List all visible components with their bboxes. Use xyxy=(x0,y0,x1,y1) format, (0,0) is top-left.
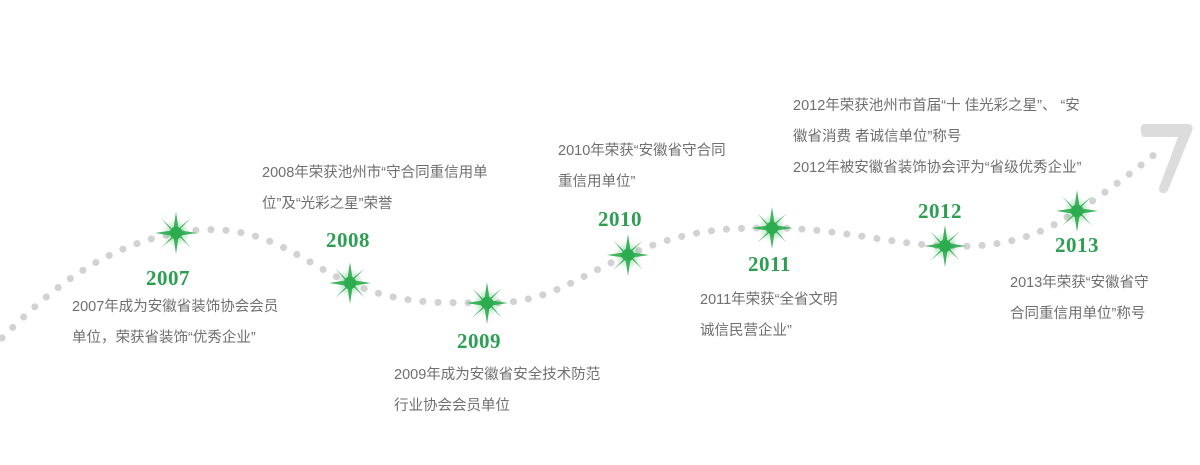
timeline-figure: 20072007年成为安徽省装饰协会会员单位，荣获省装饰“优秀企业”200820… xyxy=(0,0,1200,465)
arrow-seven-shape-icon xyxy=(1138,118,1196,196)
milestone-description-line: 2009年成为安徽省安全技术防范 xyxy=(394,360,600,391)
milestone-year-label-2012: 2012 xyxy=(918,199,962,224)
milestone-year-label-2008: 2008 xyxy=(326,228,370,253)
milestone-year-label-2007: 2007 xyxy=(146,266,190,291)
milestone-marker-2011[interactable] xyxy=(750,206,794,250)
milestone-description-line: 位”及“光彩之星”荣誉 xyxy=(262,189,488,220)
milestone-year-label-2010: 2010 xyxy=(598,207,642,232)
milestone-description-line: 徽省消费 者诚信单位”称号 xyxy=(793,122,1081,153)
milestone-marker-2007[interactable] xyxy=(154,211,198,255)
milestone-marker-2013[interactable] xyxy=(1055,189,1099,233)
milestone-year-label-2011: 2011 xyxy=(748,252,791,277)
milestone-description-2007: 2007年成为安徽省装饰协会会员单位，荣获省装饰“优秀企业” xyxy=(72,292,278,354)
milestone-description-line: 2007年成为安徽省装饰协会会员 xyxy=(72,292,278,323)
milestone-description-line: 2013年荣获“安徽省守 xyxy=(1010,268,1149,299)
milestone-description-line: 2012年被安徽省装饰协会评为“省级优秀企业” xyxy=(793,153,1081,184)
milestone-description-2012: 2012年荣获池州市首届“十 佳光彩之星”、 “安徽省消费 者诚信单位”称号20… xyxy=(793,91,1081,184)
milestone-description-2011: 2011年荣获“全省文明诚信民营企业” xyxy=(700,285,838,347)
milestone-marker-2009[interactable] xyxy=(465,281,509,325)
milestone-description-line: 2010年荣获“安徽省守合同 xyxy=(558,136,726,167)
milestone-year-label-2013: 2013 xyxy=(1055,233,1099,258)
milestone-description-2013: 2013年荣获“安徽省守合同重信用单位”称号 xyxy=(1010,268,1149,330)
milestone-year-label-2009: 2009 xyxy=(457,329,501,354)
milestone-description-2008: 2008年荣获池州市“守合同重信用单位”及“光彩之星”荣誉 xyxy=(262,158,488,220)
milestone-description-line: 合同重信用单位”称号 xyxy=(1010,299,1149,330)
milestone-marker-2008[interactable] xyxy=(328,261,372,305)
milestone-description-line: 诚信民营企业” xyxy=(700,316,838,347)
milestone-description-2010: 2010年荣获“安徽省守合同重信用单位” xyxy=(558,136,726,198)
milestone-description-2009: 2009年成为安徽省安全技术防范行业协会会员单位 xyxy=(394,360,600,422)
milestone-description-line: 2011年荣获“全省文明 xyxy=(700,285,838,316)
milestone-description-line: 2012年荣获池州市首届“十 佳光彩之星”、 “安 xyxy=(793,91,1081,122)
milestone-description-line: 重信用单位” xyxy=(558,167,726,198)
milestone-marker-2012[interactable] xyxy=(923,224,967,268)
milestone-description-line: 2008年荣获池州市“守合同重信用单 xyxy=(262,158,488,189)
milestone-description-line: 单位，荣获省装饰“优秀企业” xyxy=(72,323,278,354)
milestone-description-line: 行业协会会员单位 xyxy=(394,391,600,422)
milestone-marker-2010[interactable] xyxy=(606,233,650,277)
